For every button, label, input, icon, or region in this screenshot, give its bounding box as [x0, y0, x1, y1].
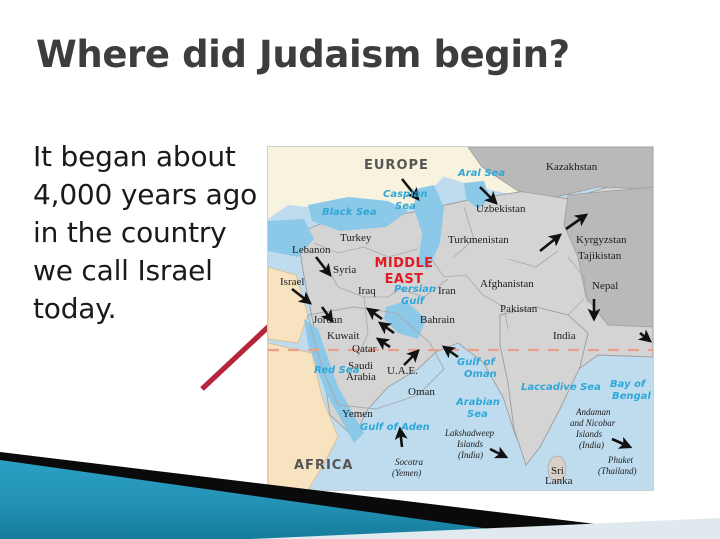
- map-country-uzbekistan: Uzbekistan: [476, 203, 526, 215]
- map-country-kuwait: Kuwait: [327, 330, 359, 342]
- map-country-yemen: Yemen: [342, 408, 373, 420]
- map-water-red-sea: Red Sea: [314, 365, 360, 376]
- map-country-afghanistan: Afghanistan: [480, 278, 534, 290]
- map-island-islands: Islands: [456, 439, 484, 449]
- map-water-bengal: Bengal: [612, 391, 651, 402]
- map-island-islands: Islands: [575, 429, 603, 439]
- map-country-kyrgyzstan: Kyrgyzstan: [576, 234, 627, 246]
- map-country-bahrain: Bahrain: [420, 314, 455, 326]
- map-country-lanka: Lanka: [545, 475, 573, 487]
- map-water-aral-sea: Aral Sea: [457, 168, 505, 179]
- map-water-laccadive-sea: Laccadive Sea: [521, 382, 601, 393]
- map-water-oman: Oman: [464, 369, 497, 380]
- map-island-and-nicobar: and Nicobar: [570, 418, 616, 428]
- region-label-line1: MIDDLE: [375, 256, 434, 271]
- map-country-turkey: Turkey: [340, 232, 372, 244]
- map-water-gulf: Gulf: [401, 296, 426, 307]
- middle-east-map: EUROPEAFRICA KazakhstanTurkeyLebanonIsra…: [267, 146, 654, 491]
- map-island-yemen: (Yemen): [392, 468, 421, 478]
- map-island-india: (India): [458, 450, 483, 460]
- map-country-jordan: Jordan: [313, 314, 343, 326]
- map-water-sea: Sea: [395, 201, 416, 212]
- map-island-andaman: Andaman: [575, 407, 611, 417]
- body-paragraph: It began about 4,000 years ago in the co…: [33, 138, 258, 328]
- map-island-thailand: (Thailand): [598, 466, 637, 476]
- map-country-nepal: Nepal: [592, 280, 618, 292]
- map-country-syria: Syria: [333, 264, 356, 276]
- map-country-turkmenistan: Turkmenistan: [448, 234, 509, 246]
- page-title: Where did Judaism begin?: [36, 33, 570, 76]
- map-country-u-a-e: U.A.E.: [387, 365, 418, 377]
- map-country-israel: Israel: [280, 276, 304, 288]
- map-island-india: (India): [579, 440, 604, 450]
- map-country-tajikistan: Tajikistan: [578, 250, 622, 262]
- map-continent-africa: AFRICA: [294, 458, 353, 473]
- map-continent-europe: EUROPE: [364, 158, 429, 173]
- map-country-india: India: [553, 330, 576, 342]
- map-island-lakshadweep: Lakshadweep: [444, 428, 494, 438]
- map-water-gulf-of: Gulf of: [457, 357, 496, 368]
- region-label-line2: EAST: [385, 272, 424, 287]
- map-graphic: EUROPEAFRICA KazakhstanTurkeyLebanonIsra…: [268, 147, 653, 490]
- map-country-kazakhstan: Kazakhstan: [546, 161, 598, 173]
- map-country-iran: Iran: [438, 285, 456, 297]
- map-country-oman: Oman: [408, 386, 435, 398]
- map-water-caspian: Caspian: [383, 189, 428, 200]
- map-island-socotra: Socotra: [395, 457, 423, 467]
- map-country-lebanon: Lebanon: [292, 244, 331, 256]
- map-water-black-sea: Black Sea: [322, 207, 377, 218]
- map-water-gulf-of-aden: Gulf of Aden: [360, 422, 430, 433]
- map-island-phuket: Phuket: [607, 455, 633, 465]
- map-water-sea: Sea: [467, 409, 488, 420]
- map-country-pakistan: Pakistan: [500, 303, 538, 315]
- map-country-iraq: Iraq: [358, 285, 376, 297]
- map-water-bay-of: Bay of: [610, 379, 647, 390]
- map-country-qatar: Qatar: [352, 343, 377, 355]
- map-water-arabian: Arabian: [455, 397, 500, 408]
- band-light-layer: [250, 518, 720, 539]
